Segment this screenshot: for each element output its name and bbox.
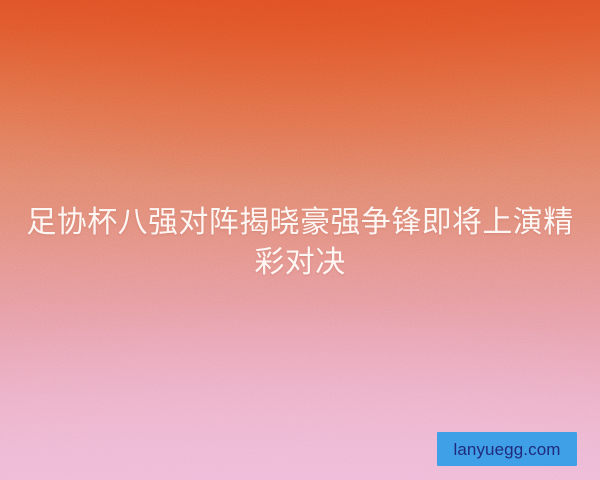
cover-image-canvas: 足协杯八强对阵揭晓豪强争锋即将上演精彩对决 lanyuegg.com	[0, 0, 600, 480]
watermark-badge[interactable]: lanyuegg.com	[437, 432, 577, 466]
page-title: 足协杯八强对阵揭晓豪强争锋即将上演精彩对决	[22, 203, 578, 283]
watermark-label: lanyuegg.com	[453, 441, 560, 458]
